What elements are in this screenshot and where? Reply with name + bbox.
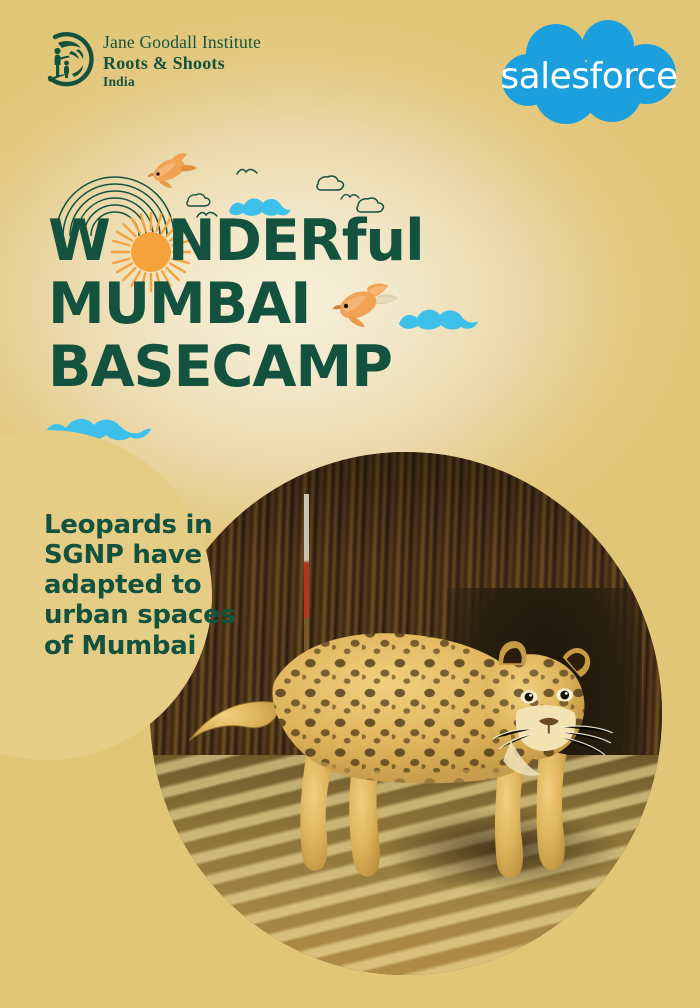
jgi-mark-icon	[38, 30, 94, 90]
svg-text:salesforce: salesforce	[500, 56, 677, 97]
headline-letter-w: W	[48, 208, 112, 274]
salesforce-cloud-icon: salesforce	[496, 18, 682, 134]
jgi-program-name: Roots & Shoots	[103, 54, 261, 72]
jgi-institute-name: Jane Goodall Institute	[103, 34, 261, 52]
headline-line-3: BASECAMP	[48, 340, 478, 394]
headline-line-1: WNDERful	[48, 214, 478, 268]
headline-ful: ful	[342, 208, 424, 274]
headline-line-2: MUMBAI	[48, 277, 478, 331]
salesforce-logo: salesforce	[496, 18, 682, 134]
poster-body-copy: Leopards in SGNP have adapted to urban s…	[44, 510, 259, 661]
poster-headline: WNDERful MUMBAI BASECAMP	[48, 214, 478, 394]
jgi-region-name: India	[103, 75, 261, 89]
jgi-logo-text: Jane Goodall Institute Roots & Shoots In…	[103, 32, 261, 89]
poster: Jane Goodall Institute Roots & Shoots In…	[0, 0, 700, 1008]
headline-nder: NDER	[168, 208, 342, 274]
jgi-logo: Jane Goodall Institute Roots & Shoots In…	[38, 30, 261, 90]
